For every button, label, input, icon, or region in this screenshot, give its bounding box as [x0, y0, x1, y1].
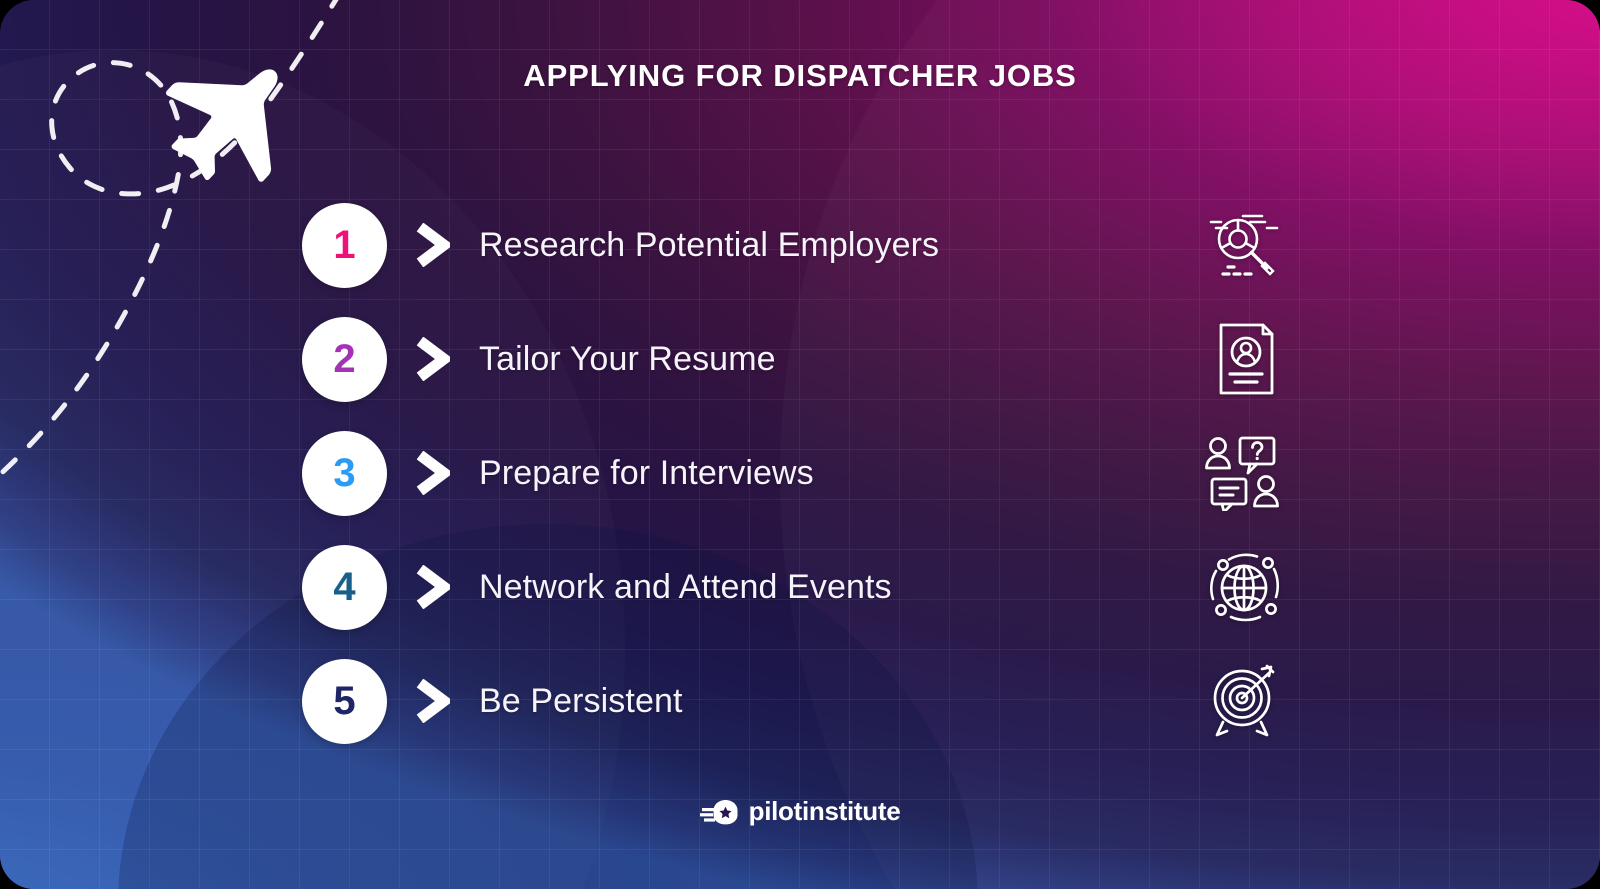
step-number-badge: 5	[302, 659, 387, 744]
chart-magnifier-icon	[1196, 199, 1292, 291]
footer-logo: pilotinstitute	[0, 796, 1600, 827]
step-label: Network and Attend Events	[479, 568, 1196, 607]
chevron-right-icon	[387, 565, 479, 609]
step-row[interactable]: 1 Research Potential Employers	[302, 188, 1292, 302]
target-arrow-icon	[1196, 655, 1292, 747]
steps-list: 1 Research Potential Employers	[302, 188, 1292, 758]
step-row[interactable]: 5 Be Persistent	[302, 644, 1292, 758]
chevron-right-icon	[387, 679, 479, 723]
chevron-right-icon	[387, 451, 479, 495]
step-number-badge: 2	[302, 317, 387, 402]
step-row[interactable]: 2 Tailor Your Resume	[302, 302, 1292, 416]
step-label: Be Persistent	[479, 682, 1196, 721]
step-number: 3	[333, 453, 355, 493]
step-label: Prepare for Interviews	[479, 454, 1196, 493]
winged-shield-star-icon	[700, 797, 738, 827]
step-label: Tailor Your Resume	[479, 340, 1196, 379]
step-row[interactable]: 3 Prepare for Interviews	[302, 416, 1292, 530]
interview-chat-icon	[1196, 427, 1292, 519]
step-number-badge: 1	[302, 203, 387, 288]
step-number: 2	[333, 339, 355, 379]
step-number: 5	[333, 681, 355, 721]
step-number-badge: 3	[302, 431, 387, 516]
chevron-right-icon	[387, 223, 479, 267]
resume-document-icon	[1196, 313, 1292, 405]
infographic-card: APPLYING FOR DISPATCHER JOBS 1 Research …	[0, 0, 1600, 889]
logo-wordmark: pilotinstitute	[749, 796, 901, 827]
step-label: Research Potential Employers	[479, 226, 1196, 265]
step-number-badge: 4	[302, 545, 387, 630]
step-number: 4	[333, 567, 355, 607]
page-title: APPLYING FOR DISPATCHER JOBS	[0, 58, 1600, 94]
step-number: 1	[333, 225, 355, 265]
step-row[interactable]: 4 Network and Attend Events	[302, 530, 1292, 644]
chevron-right-icon	[387, 337, 479, 381]
globe-network-icon	[1196, 541, 1292, 633]
